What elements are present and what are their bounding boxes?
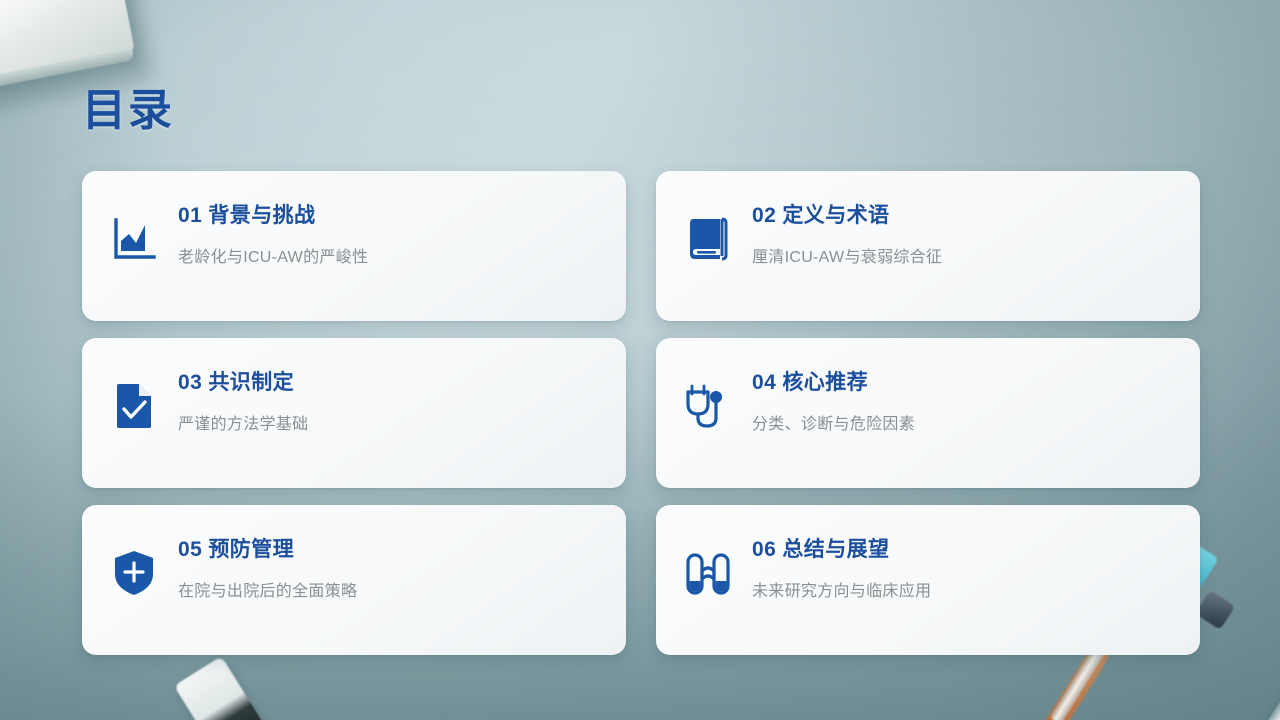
toc-card-06[interactable]: 06 总结与展望 未来研究方向与临床应用	[656, 505, 1200, 655]
toc-card-02-title: 02 定义与术语	[752, 203, 1174, 228]
toc-card-06-body: 06 总结与展望 未来研究方向与临床应用	[752, 535, 1174, 603]
toc-card-03-title: 03 共识制定	[178, 370, 600, 395]
toc-card-01-body: 01 背景与挑战 老龄化与ICU-AW的严峻性	[178, 201, 600, 269]
toc-card-04-body: 04 核心推荐 分类、诊断与危险因素	[752, 368, 1174, 436]
toc-card-05-body: 05 预防管理 在院与出院后的全面策略	[178, 535, 600, 603]
toc-card-02-desc: 厘清ICU-AW与衰弱综合征	[752, 248, 1174, 269]
toc-card-02-body: 02 定义与术语 厘清ICU-AW与衰弱综合征	[752, 201, 1174, 269]
toc-card-05[interactable]: 05 预防管理 在院与出院后的全面策略	[82, 505, 626, 655]
toc-card-03[interactable]: 03 共识制定 严谨的方法学基础	[82, 338, 626, 488]
toc-card-03-desc: 严谨的方法学基础	[178, 415, 600, 436]
toc-card-05-title: 05 预防管理	[178, 537, 600, 562]
shield-plus-icon	[108, 545, 160, 601]
binoculars-icon	[682, 545, 734, 601]
toc-card-01-desc: 老龄化与ICU-AW的严峻性	[178, 248, 600, 269]
toc-card-04-desc: 分类、诊断与危险因素	[752, 415, 1174, 436]
slide-root: 目录 01 背景与挑战 老龄化与ICU-AW的严峻性	[0, 0, 1280, 720]
toc-card-04[interactable]: 04 核心推荐 分类、诊断与危险因素	[656, 338, 1200, 488]
toc-card-05-desc: 在院与出院后的全面策略	[178, 582, 600, 603]
toc-card-04-title: 04 核心推荐	[752, 370, 1174, 395]
toc-card-01[interactable]: 01 背景与挑战 老龄化与ICU-AW的严峻性	[82, 171, 626, 321]
toc-card-06-desc: 未来研究方向与临床应用	[752, 582, 1174, 603]
toc-card-03-body: 03 共识制定 严谨的方法学基础	[178, 368, 600, 436]
page-title: 目录	[82, 74, 174, 138]
toc-card-02[interactable]: 02 定义与术语 厘清ICU-AW与衰弱综合征	[656, 171, 1200, 321]
toc-card-06-title: 06 总结与展望	[752, 537, 1174, 562]
stethoscope-icon	[682, 378, 734, 434]
toc-card-01-title: 01 背景与挑战	[178, 203, 600, 228]
bar-chart-icon	[108, 211, 160, 267]
contents-grid: 01 背景与挑战 老龄化与ICU-AW的严峻性 02 定义与术语 厘清ICU-A…	[82, 171, 1200, 655]
document-check-icon	[108, 378, 160, 434]
book-icon	[682, 211, 734, 267]
